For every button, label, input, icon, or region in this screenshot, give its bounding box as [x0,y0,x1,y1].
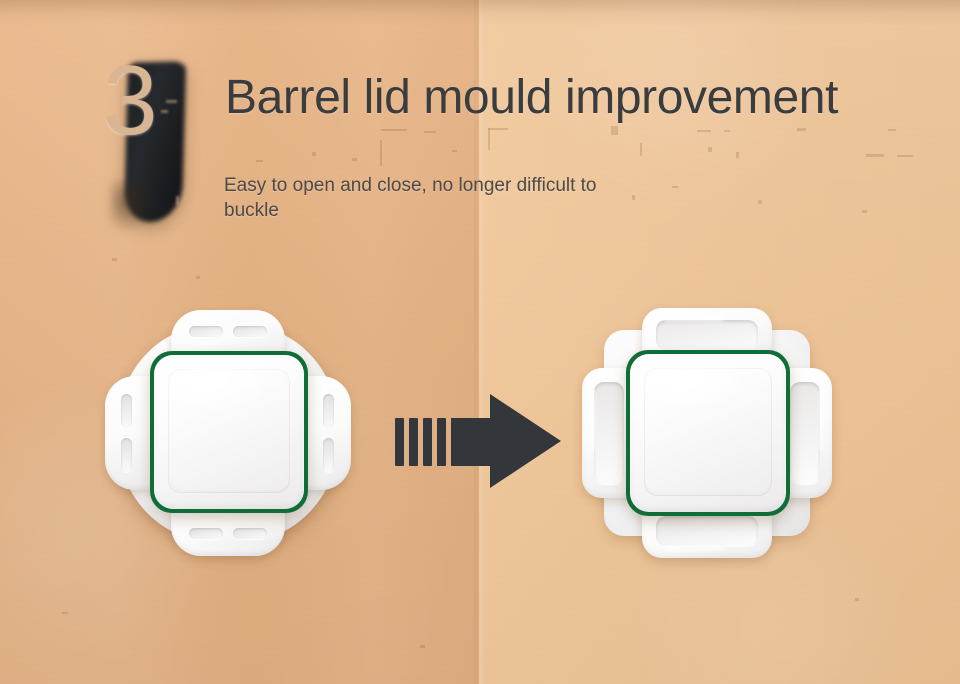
dark-blurred-object-icon [161,110,168,113]
handle-lock-highlight [590,390,596,450]
arrow-tail-segment [395,418,404,466]
right-arrow-icon [394,392,562,490]
latch-dimple [189,326,223,337]
slide-header: 3 Barrel lid mould improvement Easy to o… [0,0,960,250]
lid-gloss-highlight [164,363,282,417]
handle-lock-recess [656,516,758,546]
handle-lock-highlight [664,546,724,551]
latch-dimple [233,326,267,337]
handle-lock-recess [790,382,820,484]
dark-blurred-object-icon [176,196,179,205]
latch-dimple [323,438,334,472]
lid-surface [630,354,786,512]
latch-dimple [189,528,223,539]
arrow-tail-segment [437,418,446,466]
barrel-lid-with-gasket [626,350,790,516]
handle-lock-highlight [664,316,724,322]
lid-gloss-highlight [640,362,758,416]
lid-surface [154,355,304,509]
latch-dimple [121,394,132,428]
latch-dimple [121,438,132,472]
arrow-tail-segment [409,418,418,466]
step-number: 3 [103,51,156,149]
arrow-head [451,394,561,488]
before-product-image [103,308,353,558]
handle-lock-highlight [818,390,824,450]
barrel-lid-with-gasket [150,351,308,513]
arrow-tail-segment [423,418,432,466]
after-product-image [582,308,832,558]
handle-lock-recess [656,320,758,350]
page-subtitle: Easy to open and close, no longer diffic… [224,173,654,224]
latch-dimple [323,394,334,428]
handle-lock-recess [594,382,624,484]
dark-blurred-object-icon [166,100,177,103]
page-title: Barrel lid mould improvement [225,70,838,125]
latch-dimple [233,528,267,539]
